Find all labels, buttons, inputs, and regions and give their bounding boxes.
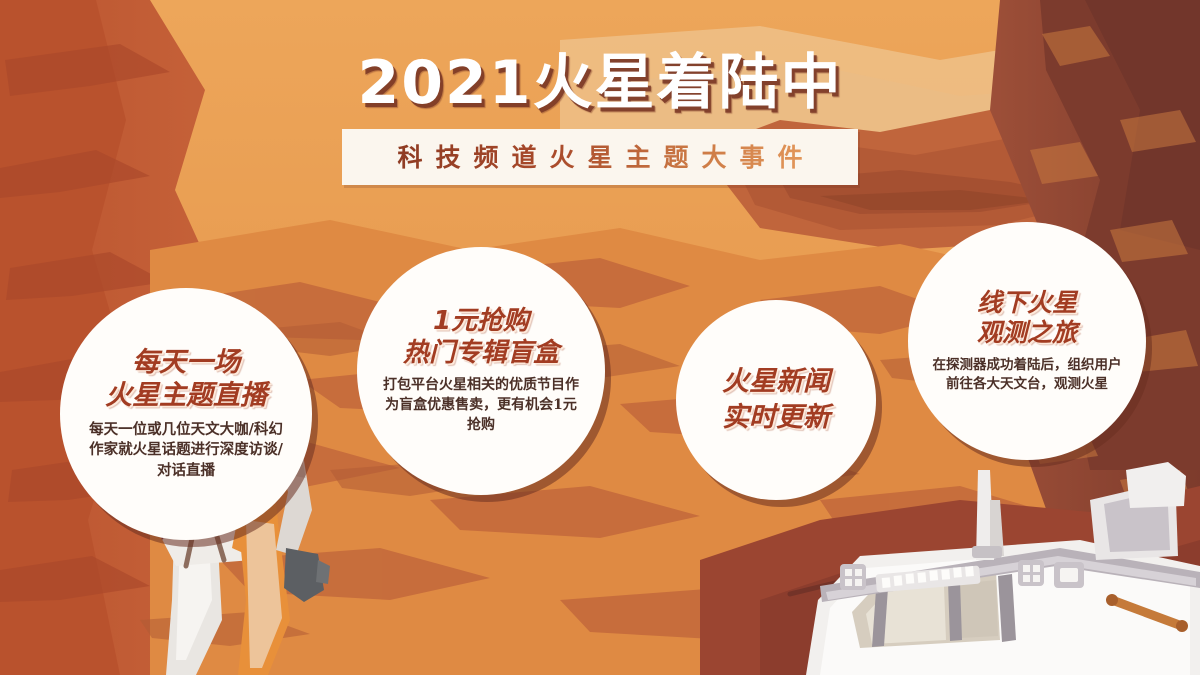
feature-title-blindbox: 1元抢购 热门专辑盲盒	[403, 306, 559, 369]
feature-title-line1: 1元抢购	[403, 306, 559, 338]
poster-canvas: 2021火星着陆中 科技频道火星主题大事件 每天一场 火星主题直播 每天一位或几…	[0, 0, 1200, 675]
page-title: 2021火星着陆中	[0, 52, 1200, 115]
feature-title-offline: 线下火星 观测之旅	[977, 288, 1077, 349]
feature-title-line2: 实时更新	[722, 400, 830, 436]
feature-title-line2: 热门专辑盲盒	[403, 338, 559, 370]
feature-circle-news[interactable]: 火星新闻 实时更新	[676, 300, 876, 500]
feature-title-line2: 火星主题直播	[105, 380, 267, 413]
feature-title-line1: 每天一场	[105, 347, 267, 380]
feature-body-live: 每天一位或几位天文大咖/科幻作家就火星话题进行深度访谈/对话直播	[86, 420, 286, 482]
feature-title-line1: 火星新闻	[722, 364, 830, 400]
subtitle-band: 科技频道火星主题大事件	[342, 129, 857, 185]
feature-title-news: 火星新闻 实时更新	[722, 364, 830, 437]
feature-body-blindbox: 打包平台火星相关的优质节目作为盲盒优惠售卖，更有机会1元抢购	[383, 376, 579, 436]
feature-body-offline: 在探测器成功着陆后，组织用户前往各大天文台，观测火星	[932, 356, 1122, 394]
feature-circle-blindbox[interactable]: 1元抢购 热门专辑盲盒 打包平台火星相关的优质节目作为盲盒优惠售卖，更有机会1元…	[357, 247, 605, 495]
feature-circle-offline[interactable]: 线下火星 观测之旅 在探测器成功着陆后，组织用户前往各大天文台，观测火星	[908, 222, 1146, 460]
poster-header: 2021火星着陆中 科技频道火星主题大事件	[0, 52, 1200, 185]
feature-title-live: 每天一场 火星主题直播	[105, 347, 267, 413]
feature-title-line2: 观测之旅	[977, 318, 1077, 349]
feature-title-line1: 线下火星	[977, 288, 1077, 319]
feature-circle-live[interactable]: 每天一场 火星主题直播 每天一位或几位天文大咖/科幻作家就火星话题进行深度访谈/…	[60, 288, 312, 540]
subtitle-text: 科技频道火星主题大事件	[384, 143, 815, 172]
